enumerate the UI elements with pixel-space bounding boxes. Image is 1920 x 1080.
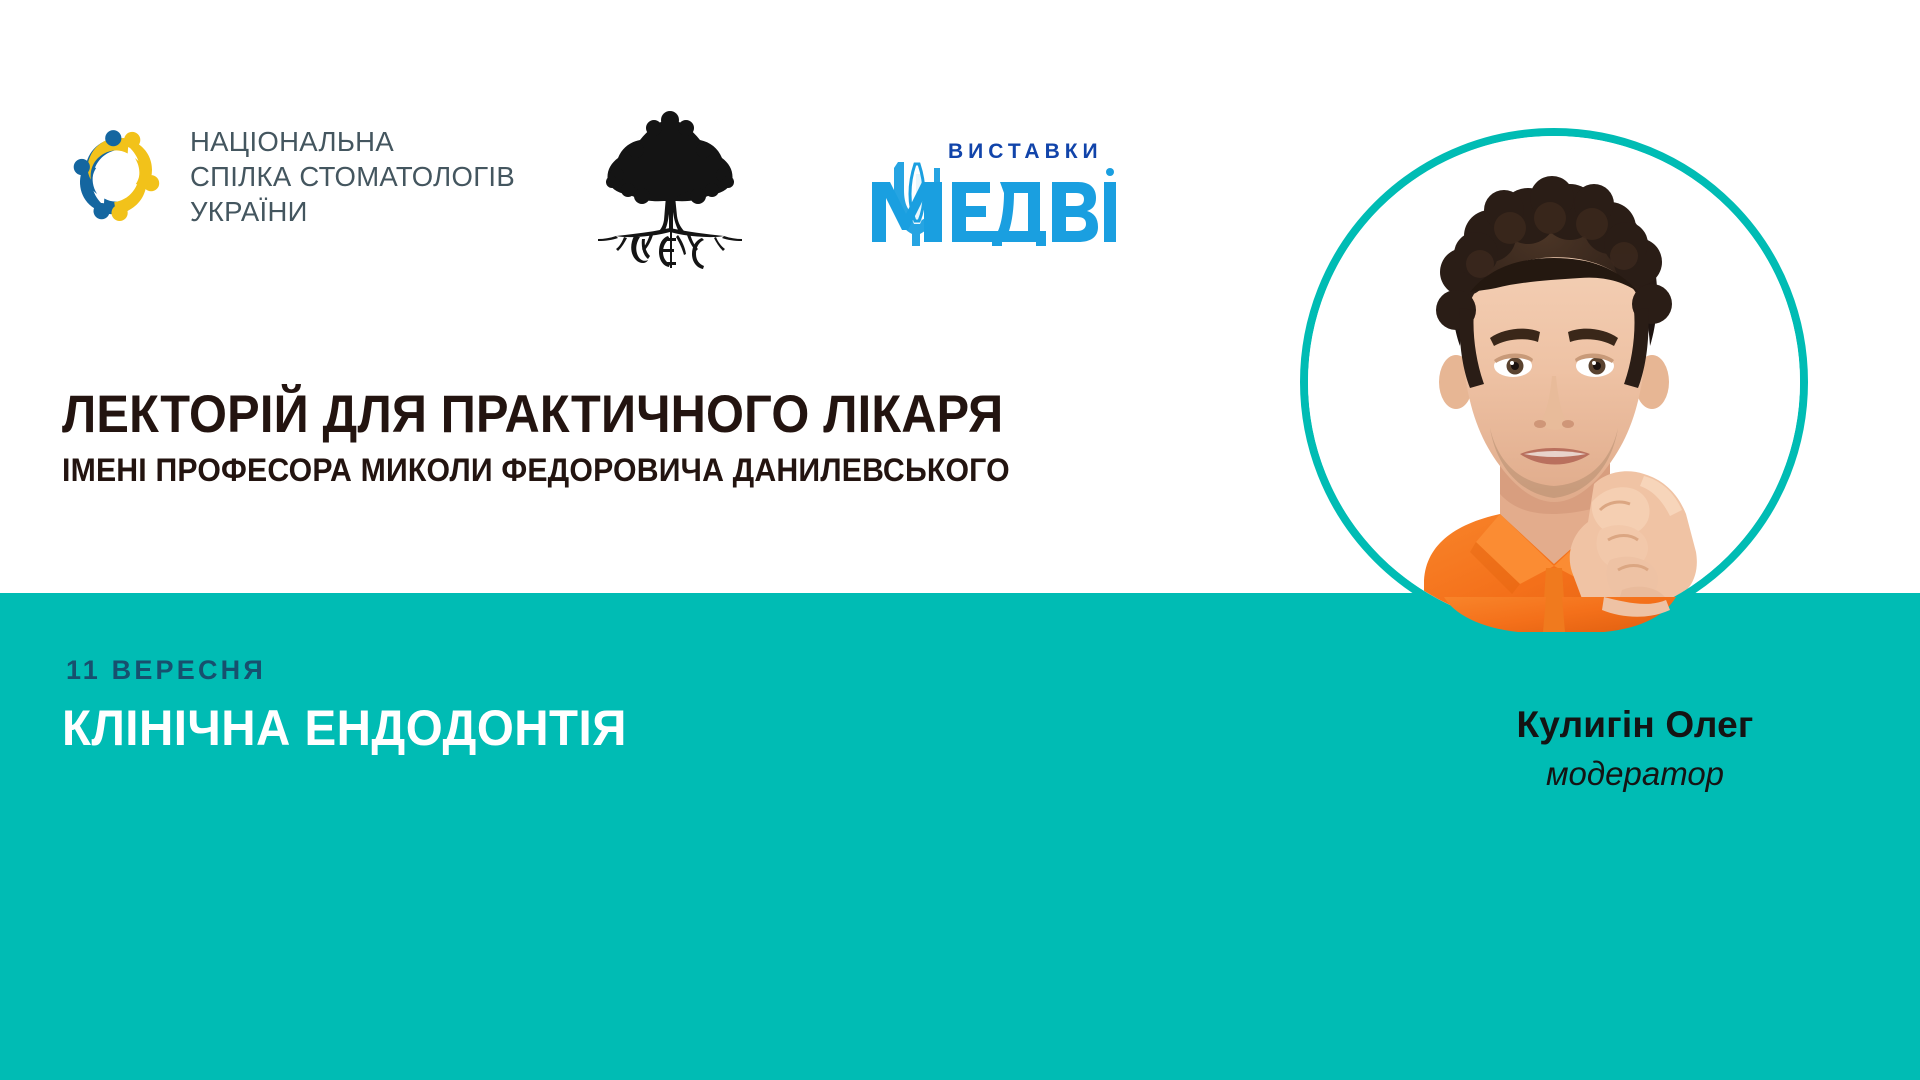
speaker-portrait: [1300, 128, 1808, 636]
sponsor-logo-row: НАЦІОНАЛЬНА СПІЛКА СТОМАТОЛОГІВ УКРАЇНИ: [0, 100, 1300, 280]
session-date: 11 ВЕРЕСНЯ: [66, 655, 266, 686]
teal-background-band: [0, 593, 1920, 1080]
nssu-logo-line-3: УКРАЇНИ: [190, 194, 515, 229]
nssu-logo-line-1: НАЦІОНАЛЬНА: [190, 124, 515, 159]
nssu-swirl-icon: [62, 122, 170, 230]
speaker-role: модератор: [1425, 753, 1845, 795]
nssu-logo-text: НАЦІОНАЛЬНА СПІЛКА СТОМАТОЛОГІВ УКРАЇНИ: [190, 124, 515, 229]
headline-subtitle: ІМЕНІ ПРОФЕСОРА МИКОЛИ ФЕДОРОВИЧА ДАНИЛЕ…: [62, 450, 1225, 490]
nssu-logo: НАЦІОНАЛЬНА СПІЛКА СТОМАТОЛОГІВ УКРАЇНИ: [62, 122, 515, 230]
speaker-caption: Кулигін Олег модератор: [1425, 703, 1845, 795]
speaker-photo: [1304, 132, 1804, 632]
medvin-logo: ВИСТАВКИ: [860, 130, 1110, 250]
event-banner: НАЦІОНАЛЬНА СПІЛКА СТОМАТОЛОГІВ УКРАЇНИ: [0, 0, 1920, 1080]
nssu-logo-line-2: СПІЛКА СТОМАТОЛОГІВ: [190, 159, 515, 194]
tree-with-roots-icon: [590, 108, 750, 273]
speaker-name: Кулигін Олег: [1425, 703, 1845, 747]
session-topic: КЛІНІЧНА ЕНДОДОНТІЯ: [62, 700, 627, 756]
medvin-logo-wordmark: [868, 160, 1116, 246]
event-headline: ЛЕКТОРІЙ ДЛЯ ПРАКТИЧНОГО ЛІКАРЯ ІМЕНІ ПР…: [62, 386, 1312, 490]
headline-main-title: ЛЕКТОРІЙ ДЛЯ ПРАКТИЧНОГО ЛІКАРЯ: [62, 386, 1212, 444]
